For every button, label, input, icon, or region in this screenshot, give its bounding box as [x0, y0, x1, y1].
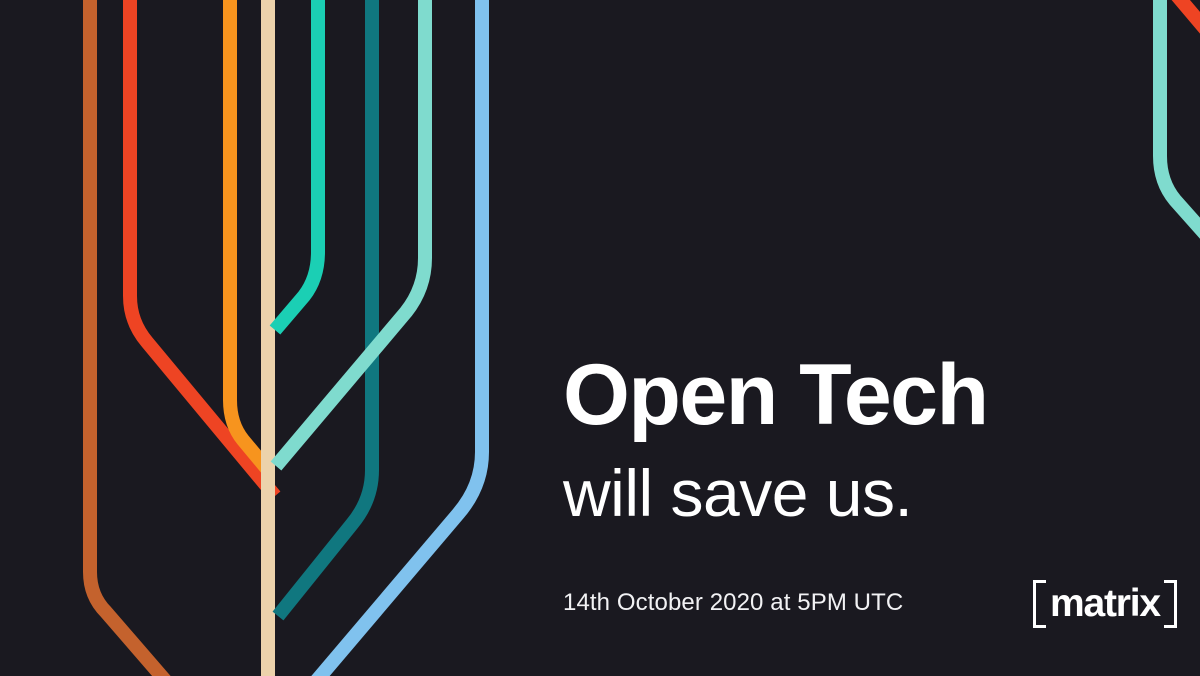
headline-block: Open Tech will save us. — [563, 352, 1163, 526]
bracket-left-icon — [1033, 580, 1046, 628]
ribbon-mint-right — [1160, 0, 1200, 262]
ribbon-teal-bright — [275, 0, 318, 330]
ribbon-blue — [312, 0, 482, 676]
matrix-ribbons-graphic — [0, 0, 1200, 676]
event-datetime: 14th October 2020 at 5PM UTC — [563, 589, 903, 617]
ribbon-red — [130, 0, 275, 496]
bracket-right-icon — [1164, 580, 1177, 628]
matrix-logo: matrix — [1033, 578, 1177, 630]
poster-canvas: Open Tech will save us. 14th October 202… — [0, 0, 1200, 676]
ribbon-mint — [276, 0, 425, 466]
page-title: Open Tech — [563, 352, 1163, 438]
matrix-wordmark: matrix — [1046, 584, 1164, 623]
page-subtitle: will save us. — [563, 460, 1163, 526]
